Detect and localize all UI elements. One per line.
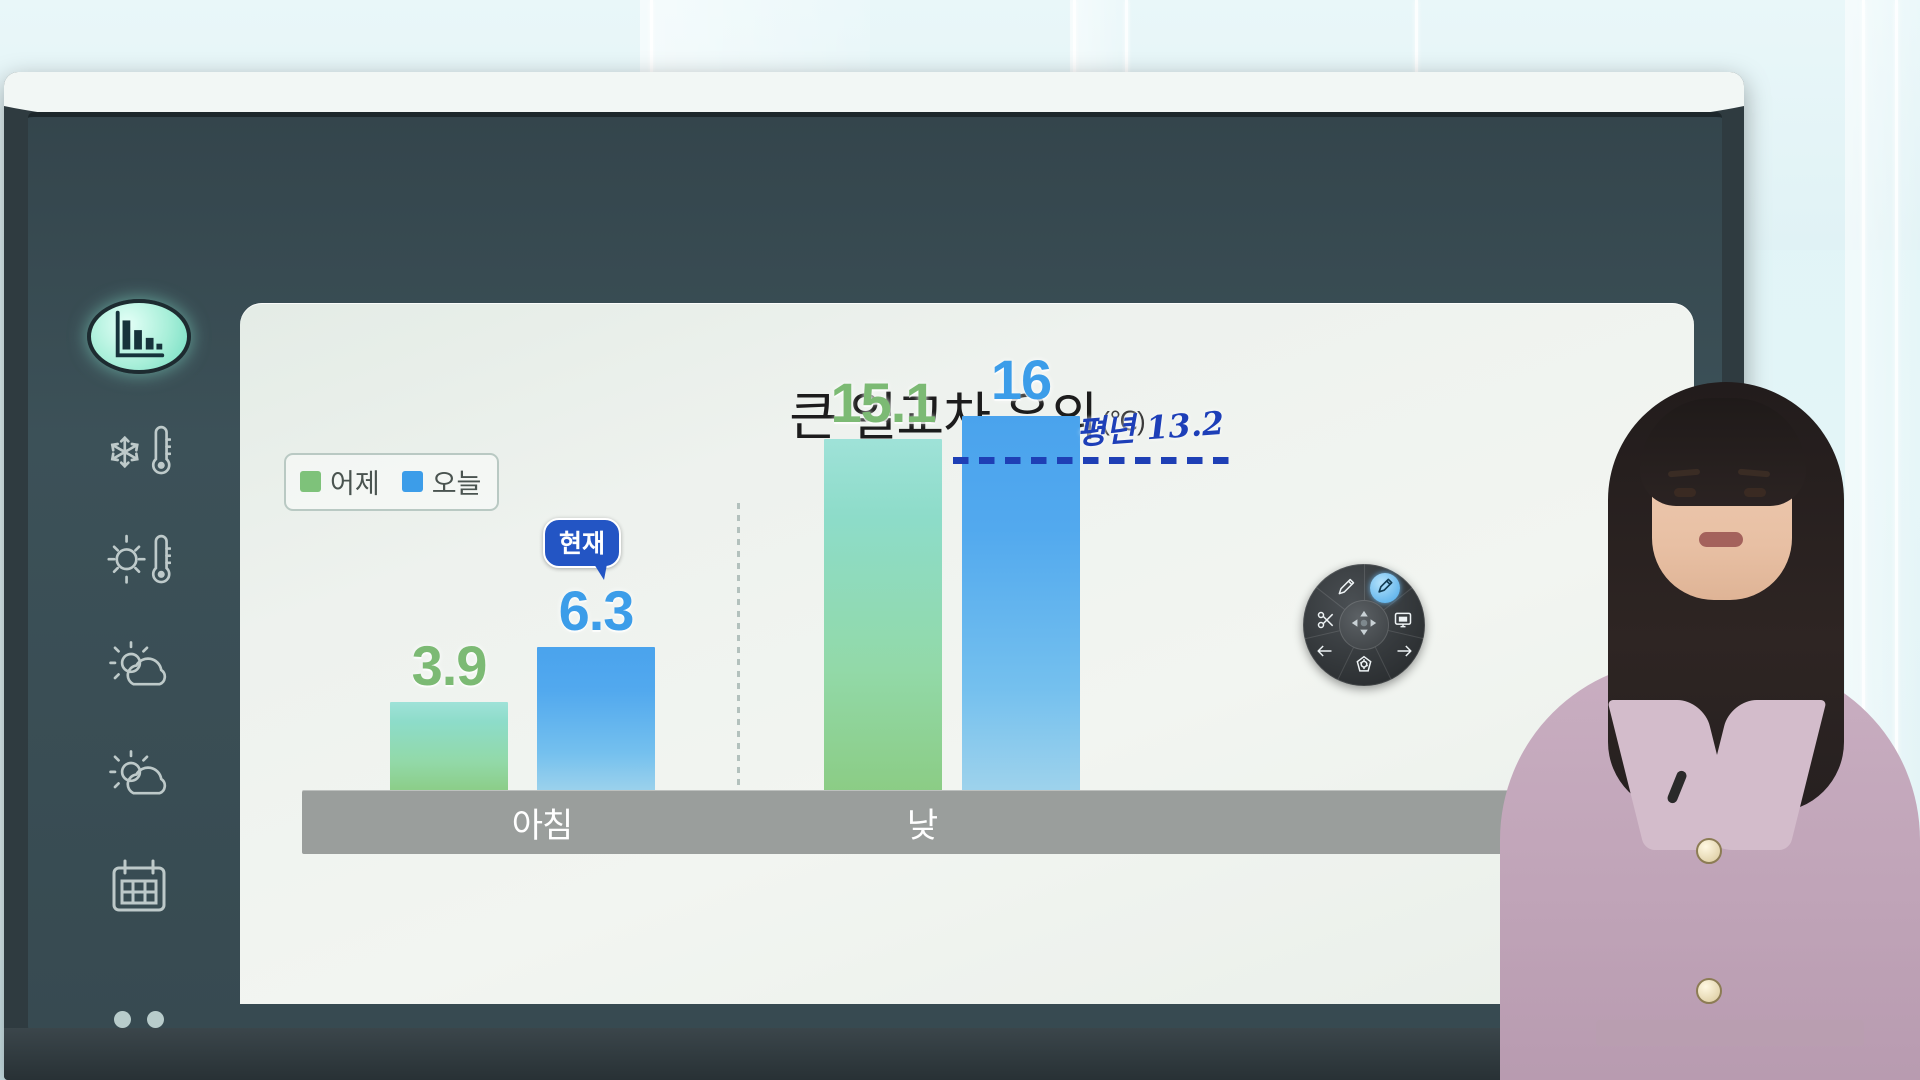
arrow-left-icon (1314, 641, 1334, 666)
sidebar-item-forecast-2[interactable] (102, 747, 176, 816)
sidebar-item-forecast-1[interactable] (102, 638, 176, 707)
pen-tool[interactable] (1333, 576, 1359, 602)
marker-icon (1375, 576, 1395, 601)
radial-tool-menu[interactable] (1303, 564, 1425, 686)
reference-line-normal (953, 457, 1230, 464)
sidebar-item-calendar[interactable] (102, 856, 176, 925)
cut-tool[interactable] (1313, 609, 1339, 635)
frame-bottom-bar (4, 1028, 1744, 1080)
previous-button[interactable] (1311, 640, 1337, 666)
bar-value-morning-today: 6.3 (534, 578, 658, 643)
axis-band: 아침 낮 (302, 790, 1632, 854)
sidebar-more-dots[interactable] (114, 1011, 164, 1028)
scissors-icon (1316, 610, 1336, 635)
gear-icon (1354, 655, 1374, 680)
sidebar (80, 177, 198, 1002)
dot-icon (114, 1011, 131, 1028)
sidebar-item-heat[interactable] (102, 529, 176, 598)
studio-light-line (1895, 0, 1898, 1080)
bar-value-morning-yesterday: 3.9 (390, 633, 508, 698)
sun-cloud-icon (107, 638, 171, 707)
highlighter-tool[interactable] (1370, 573, 1400, 603)
monitor-icon (1393, 610, 1413, 635)
sidebar-item-chart[interactable] (87, 299, 191, 374)
arrow-right-icon (1395, 641, 1415, 666)
bar-value-day-today: 16 (962, 347, 1080, 412)
reference-line-label: 평년 13.2 (1075, 398, 1226, 454)
dpad-icon (1349, 608, 1379, 643)
axis-label-morning: 아침 (452, 790, 632, 854)
bar-value-day-yesterday: 15.1 (816, 370, 950, 435)
present-tool[interactable] (1390, 609, 1416, 635)
bar-day-today[interactable] (962, 416, 1080, 794)
display-bezel: 큰 일교차 유의(℃) 어제 오늘 3.9 (28, 112, 1722, 1032)
sun-cloud-icon (107, 747, 171, 816)
snowflake-thermometer-icon (107, 420, 171, 489)
axis-label-day: 낮 (832, 790, 1012, 854)
current-badge: 현재 (543, 518, 621, 568)
chart-bars: 3.9 6.3 현재 15.1 16 평년 13.2 (240, 364, 1694, 794)
pen-icon (1336, 577, 1356, 602)
bar-day-yesterday[interactable] (824, 439, 942, 794)
sidebar-item-cold[interactable] (102, 420, 176, 489)
settings-button[interactable] (1351, 654, 1377, 680)
display-frame: 큰 일교차 유의(℃) 어제 오늘 3.9 (4, 72, 1744, 1080)
next-button[interactable] (1392, 640, 1418, 666)
studio-light-line (1862, 0, 1865, 1080)
bar-chart-icon (108, 303, 170, 370)
bar-morning-today[interactable] (537, 647, 655, 794)
dot-icon (147, 1011, 164, 1028)
bar-morning-yesterday[interactable] (390, 702, 508, 794)
weather-slide: 큰 일교차 유의(℃) 어제 오늘 3.9 (240, 303, 1694, 1004)
studio-panel (1845, 0, 1920, 1080)
sun-thermometer-icon (107, 529, 171, 598)
calendar-icon (107, 856, 171, 925)
dpad-control[interactable] (1339, 600, 1389, 650)
